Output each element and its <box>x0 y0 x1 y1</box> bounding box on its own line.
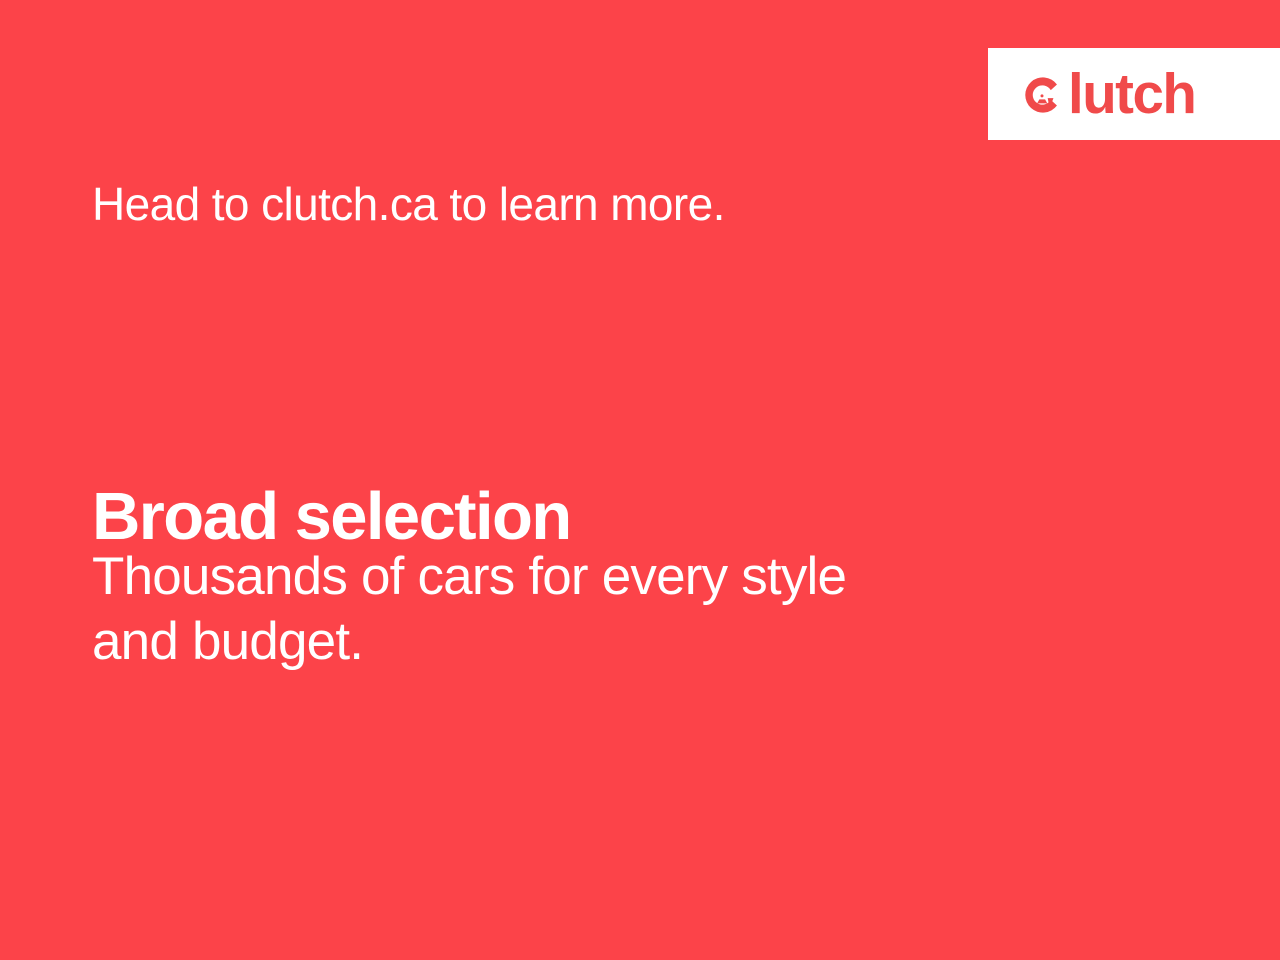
subhead-text: Thousands of cars for every style and bu… <box>92 544 1072 674</box>
clutch-logo-lockup[interactable]: lutch <box>1020 66 1197 123</box>
clutch-logo-plate[interactable]: lutch <box>988 48 1280 140</box>
clutch-c-car-icon <box>1020 73 1064 117</box>
eyebrow-text: Head to clutch.ca to learn more. <box>92 181 725 227</box>
slide-canvas: lutch Head to clutch.ca to learn more. B… <box>0 0 1280 960</box>
subhead-line-2: and budget. <box>92 609 1072 674</box>
clutch-wordmark-text: lutch <box>1068 66 1195 123</box>
page-title: Broad selection <box>92 483 571 550</box>
subhead-line-1: Thousands of cars for every style <box>92 544 1072 609</box>
